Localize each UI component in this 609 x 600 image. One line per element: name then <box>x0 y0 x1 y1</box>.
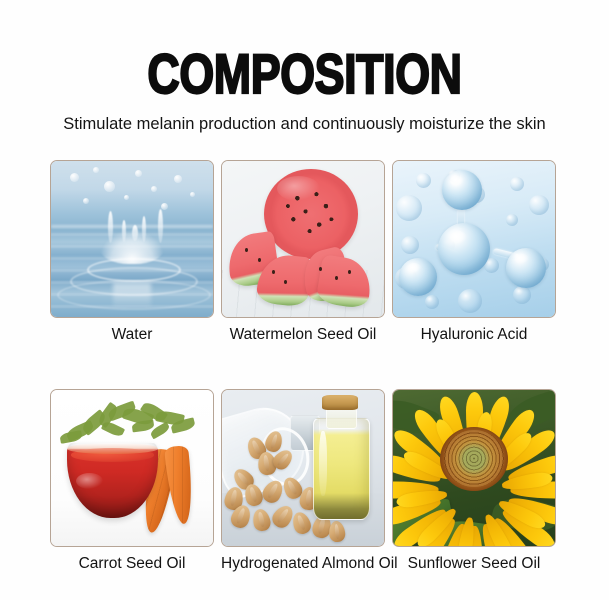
ingredient-image-sunflower-seed-oil <box>392 389 556 547</box>
ingredient-card-hyaluronic-acid[interactable]: Hyaluronic Acid <box>392 160 556 344</box>
ingredient-grid: Water <box>50 160 558 573</box>
ingredient-label-carrot-seed-oil: Carrot Seed Oil <box>50 554 214 573</box>
ingredient-card-watermelon-seed-oil[interactable]: Watermelon Seed Oil <box>221 160 385 344</box>
ingredient-row-1: Water <box>50 160 558 344</box>
almond-oil-bottle-photo <box>222 390 384 546</box>
ingredient-card-carrot-seed-oil[interactable]: Carrot Seed Oil <box>50 389 214 573</box>
ingredient-row-2: Carrot Seed Oil <box>50 389 558 573</box>
ingredient-image-hydrogenated-almond-oil <box>221 389 385 547</box>
carrot-oil-bowl-photo <box>51 390 213 546</box>
molecule-bubbles-photo <box>393 161 555 317</box>
ingredient-label-sunflower-seed-oil: Sunflower Seed Oil <box>392 554 556 573</box>
watermelon-photo <box>222 161 384 317</box>
page-title: COMPOSITION <box>61 46 548 102</box>
ingredient-image-hyaluronic-acid <box>392 160 556 318</box>
ingredient-card-hydrogenated-almond-oil[interactable]: Hydrogenated Almond Oil <box>221 389 385 573</box>
water-splash-photo <box>51 161 213 317</box>
ingredient-label-hydrogenated-almond-oil: Hydrogenated Almond Oil <box>221 554 385 573</box>
page-subtitle: Stimulate melanin production and continu… <box>0 114 609 134</box>
ingredient-image-water <box>50 160 214 318</box>
sunflower-photo <box>393 390 555 546</box>
ingredient-image-watermelon-seed-oil <box>221 160 385 318</box>
composition-infographic: COMPOSITION Stimulate melanin production… <box>0 0 609 600</box>
ingredient-label-watermelon-seed-oil: Watermelon Seed Oil <box>221 325 385 344</box>
ingredient-label-water: Water <box>50 325 214 344</box>
ingredient-image-carrot-seed-oil <box>50 389 214 547</box>
ingredient-card-water[interactable]: Water <box>50 160 214 344</box>
ingredient-card-sunflower-seed-oil[interactable]: Sunflower Seed Oil <box>392 389 556 573</box>
ingredient-label-hyaluronic-acid: Hyaluronic Acid <box>392 325 556 344</box>
